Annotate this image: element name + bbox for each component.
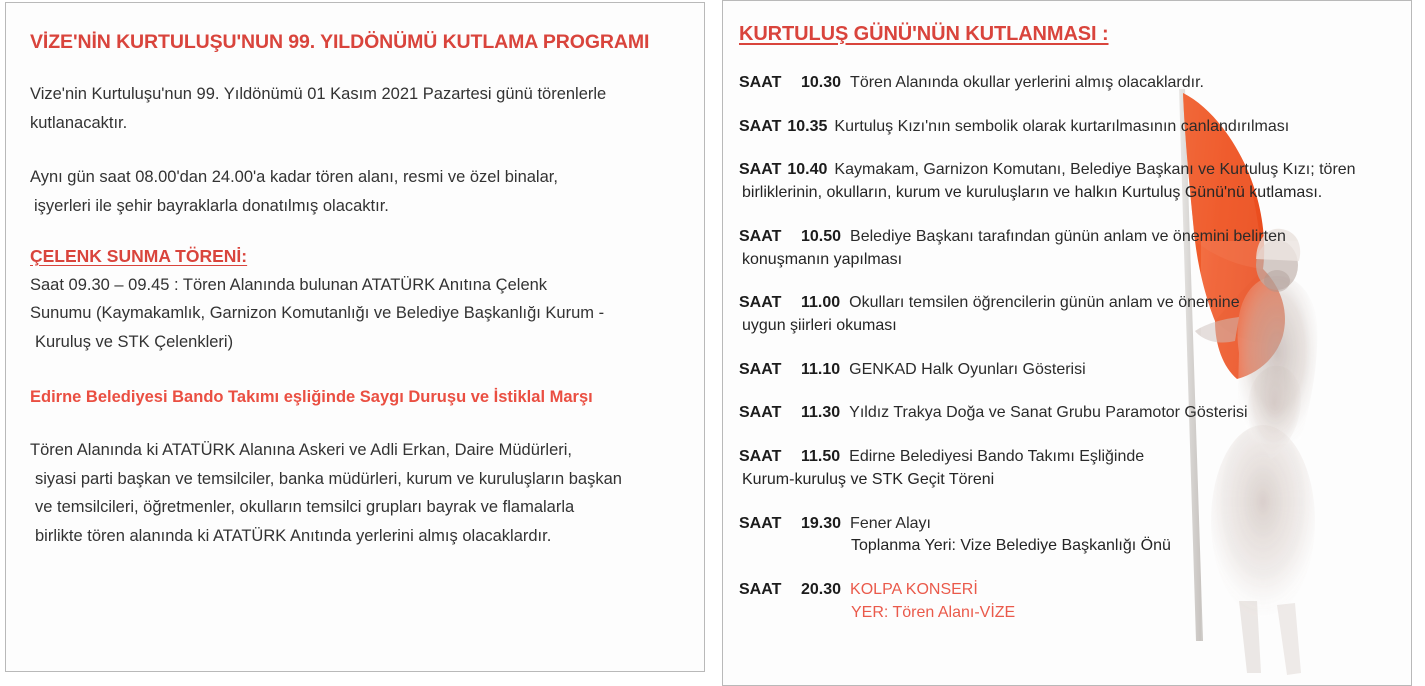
schedule-item: SAAT11.30Yıldız Trakya Doğa ve Sanat Gru… [739, 402, 1397, 425]
closing-line-4: birlikte tören alanında ki ATATÜRK Anıtı… [30, 522, 682, 550]
schedule-item-continuation: uygun şiirleri okuması [739, 315, 1397, 338]
schedule-item: SAAT10.50Belediye Başkanı tarafından gün… [739, 226, 1397, 271]
decoration-paragraph: Aynı gün saat 08.00'dan 24.00'a kadar tö… [30, 163, 682, 220]
schedule-item-time: 10.40 [787, 159, 827, 182]
right-panel-content: KURTULUŞ GÜNÜ'NÜN KUTLANMASI : SAAT10.30… [723, 1, 1411, 685]
document-page: VİZE'NİN KURTULUŞU'NUN 99. YILDÖNÜMÜ KUT… [0, 0, 1425, 686]
schedule-item-text: Belediye Başkanı tarafından günün anlam … [850, 228, 1286, 245]
schedule-item-text: Tören Alanında okullar yerlerini almış o… [850, 74, 1204, 91]
decoration-line-1: Aynı gün saat 08.00'dan 24.00'a kadar tö… [30, 168, 558, 186]
schedule-item: SAAT10.40Kaymakam, Garnizon Komutanı, Be… [739, 159, 1397, 204]
schedule-item-main-row: SAAT10.50Belediye Başkanı tarafından gün… [739, 226, 1397, 249]
celenk-section-heading: ÇELENK SUNMA TÖRENİ: [30, 246, 682, 267]
schedule-item-time: 10.30 [801, 72, 841, 95]
closing-line-2: siyasi parti başkan ve temsilciler, bank… [30, 465, 682, 493]
schedule-item-main-row: SAAT19.30Fener Alayı [739, 513, 1397, 536]
left-document-panel: VİZE'NİN KURTULUŞU'NUN 99. YILDÖNÜMÜ KUT… [5, 2, 705, 672]
saat-label: SAAT [739, 402, 801, 425]
celenk-line-1: Saat 09.30 – 09.45 : Tören Alanında bulu… [30, 271, 682, 299]
schedule-item-main-row: SAAT11.30Yıldız Trakya Doğa ve Sanat Gru… [739, 402, 1397, 425]
schedule-item-text: Edirne Belediyesi Bando Takımı Eşliğinde [849, 448, 1144, 465]
left-panel-content: VİZE'NİN KURTULUŞU'NUN 99. YILDÖNÜMÜ KUT… [6, 3, 704, 671]
schedule-item-text: Yıldız Trakya Doğa ve Sanat Grubu Paramo… [849, 404, 1247, 421]
schedule-item-continuation: birliklerinin, okulların, kurum ve kurul… [739, 182, 1397, 205]
schedule-item: SAAT11.00Okulları temsilen öğrencilerin … [739, 292, 1397, 337]
celenk-body: Saat 09.30 – 09.45 : Tören Alanında bulu… [30, 271, 682, 356]
schedule-item-main-row: SAAT11.10GENKAD Halk Oyunları Gösterisi [739, 359, 1397, 382]
schedule-item: SAAT10.30Tören Alanında okullar yerlerin… [739, 72, 1397, 95]
intro-line-1: Vize'nin Kurtuluşu'nun 99. Yıldönümü 01 … [30, 85, 606, 103]
bando-highlight-line: Edirne Belediyesi Bando Takımı eşliğinde… [30, 384, 682, 410]
saat-label: SAAT [739, 226, 801, 249]
schedule-item-time: 19.30 [801, 513, 841, 536]
schedule-item-main-row: SAAT10.30Tören Alanında okullar yerlerin… [739, 72, 1397, 95]
schedule-item: SAAT11.10GENKAD Halk Oyunları Gösterisi [739, 359, 1397, 382]
decoration-line-2: işyerleri ile şehir bayraklarla donatılm… [30, 192, 682, 220]
schedule-item-time: 11.00 [801, 292, 840, 315]
saat-label: SAAT [739, 116, 781, 139]
celenk-line-3: Kuruluş ve STK Çelenkleri) [30, 328, 682, 356]
schedule-item: SAAT11.50Edirne Belediyesi Bando Takımı … [739, 446, 1397, 491]
schedule-item-time: 10.35 [787, 116, 827, 139]
schedule-item-main-row: SAAT10.35Kurtuluş Kızı'nın sembolik olar… [739, 116, 1397, 139]
saat-label: SAAT [739, 513, 801, 536]
schedule-item-main-row: SAAT11.50Edirne Belediyesi Bando Takımı … [739, 446, 1397, 469]
schedule-list: SAAT10.30Tören Alanında okullar yerlerin… [739, 72, 1397, 625]
saat-label: SAAT [739, 72, 801, 95]
schedule-item-text: Kaymakam, Garnizon Komutanı, Belediye Ba… [834, 161, 1355, 178]
schedule-item-time: 11.10 [801, 359, 840, 382]
celenk-line-2: Sunumu (Kaymakamlık, Garnizon Komutanlığ… [30, 299, 682, 327]
schedule-item: SAAT20.30KOLPA KONSERİYER: Tören Alanı-V… [739, 579, 1397, 624]
schedule-item-text: Fener Alayı [850, 515, 931, 532]
schedule-item-time: 11.30 [801, 402, 840, 425]
saat-label: SAAT [739, 579, 801, 602]
saat-label: SAAT [739, 159, 781, 182]
closing-paragraph: Tören Alanında ki ATATÜRK Alanına Askeri… [30, 436, 682, 550]
schedule-item-text: KOLPA KONSERİ [850, 581, 978, 598]
schedule-item-main-row: SAAT10.40Kaymakam, Garnizon Komutanı, Be… [739, 159, 1397, 182]
saat-label: SAAT [739, 292, 801, 315]
schedule-item-subdetail: Toplanma Yeri: Vize Belediye Başkanlığı … [739, 535, 1397, 558]
intro-paragraph: Vize'nin Kurtuluşu'nun 99. Yıldönümü 01 … [30, 80, 682, 137]
saat-label: SAAT [739, 446, 801, 469]
closing-line-1: Tören Alanında ki ATATÜRK Alanına Askeri… [30, 436, 682, 464]
intro-line-2: kutlanacaktır. [30, 109, 682, 137]
schedule-item-continuation: Kurum-kuruluş ve STK Geçit Töreni [739, 469, 1397, 492]
schedule-item-text: Okulları temsilen öğrencilerin günün anl… [849, 294, 1239, 311]
closing-line-3: ve temsilcileri, öğretmenler, okulların … [30, 493, 682, 521]
schedule-item-time: 10.50 [801, 226, 841, 249]
schedule-item-main-row: SAAT11.00Okulları temsilen öğrencilerin … [739, 292, 1397, 315]
program-title: VİZE'NİN KURTULUŞU'NUN 99. YILDÖNÜMÜ KUT… [30, 31, 682, 54]
schedule-item-main-row: SAAT20.30KOLPA KONSERİ [739, 579, 1397, 602]
schedule-item-subdetail: YER: Tören Alanı-VİZE [739, 602, 1397, 625]
schedule-item: SAAT10.35Kurtuluş Kızı'nın sembolik olar… [739, 116, 1397, 139]
schedule-item-continuation: konuşmanın yapılması [739, 249, 1397, 272]
schedule-title: KURTULUŞ GÜNÜ'NÜN KUTLANMASI : [739, 23, 1397, 46]
schedule-item-time: 11.50 [801, 446, 840, 469]
schedule-item-text: GENKAD Halk Oyunları Gösterisi [849, 361, 1086, 378]
right-document-panel: KURTULUŞ GÜNÜ'NÜN KUTLANMASI : SAAT10.30… [722, 0, 1412, 686]
schedule-item-text: Kurtuluş Kızı'nın sembolik olarak kurtar… [834, 118, 1289, 135]
schedule-item: SAAT19.30Fener AlayıToplanma Yeri: Vize … [739, 513, 1397, 558]
schedule-item-time: 20.30 [801, 579, 841, 602]
saat-label: SAAT [739, 359, 801, 382]
